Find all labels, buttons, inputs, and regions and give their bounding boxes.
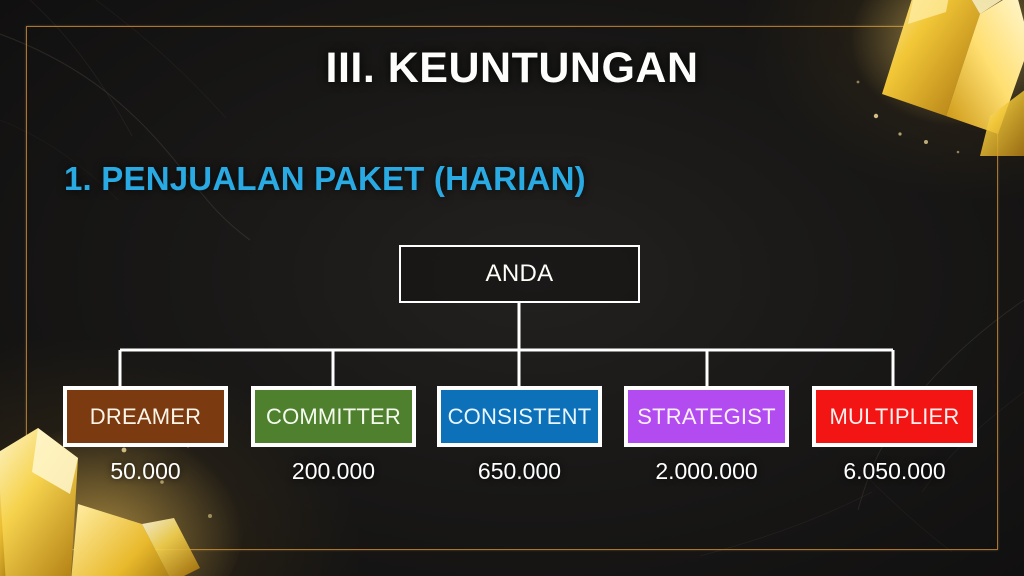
amount-committer: 200.000 [251,458,416,485]
presentation-slide: III. KEUNTUNGAN 1. PENJUALAN PAKET (HARI… [0,0,1024,576]
org-node-multiplier[interactable]: MULTIPLIER [812,386,977,447]
org-node-dreamer[interactable]: DREAMER [63,386,228,447]
amount-dreamer: 50.000 [63,458,228,485]
org-node-multiplier-label: MULTIPLIER [830,405,960,428]
section-subtitle: 1. PENJUALAN PAKET (HARIAN) [64,160,586,198]
org-node-consistent-label: CONSISTENT [448,405,592,428]
org-node-strategist[interactable]: STRATEGIST [624,386,789,447]
org-node-dreamer-label: DREAMER [90,405,201,428]
org-node-root[interactable]: ANDA [399,245,640,303]
org-node-strategist-label: STRATEGIST [637,405,776,428]
page-title: III. KEUNTUNGAN [0,44,1024,93]
org-node-consistent[interactable]: CONSISTENT [437,386,602,447]
org-node-committer-label: COMMITTER [266,405,401,428]
amount-consistent: 650.000 [437,458,602,485]
org-node-root-label: ANDA [486,261,554,286]
amount-strategist: 2.000.000 [624,458,789,485]
amount-multiplier: 6.050.000 [812,458,977,485]
org-node-committer[interactable]: COMMITTER [251,386,416,447]
